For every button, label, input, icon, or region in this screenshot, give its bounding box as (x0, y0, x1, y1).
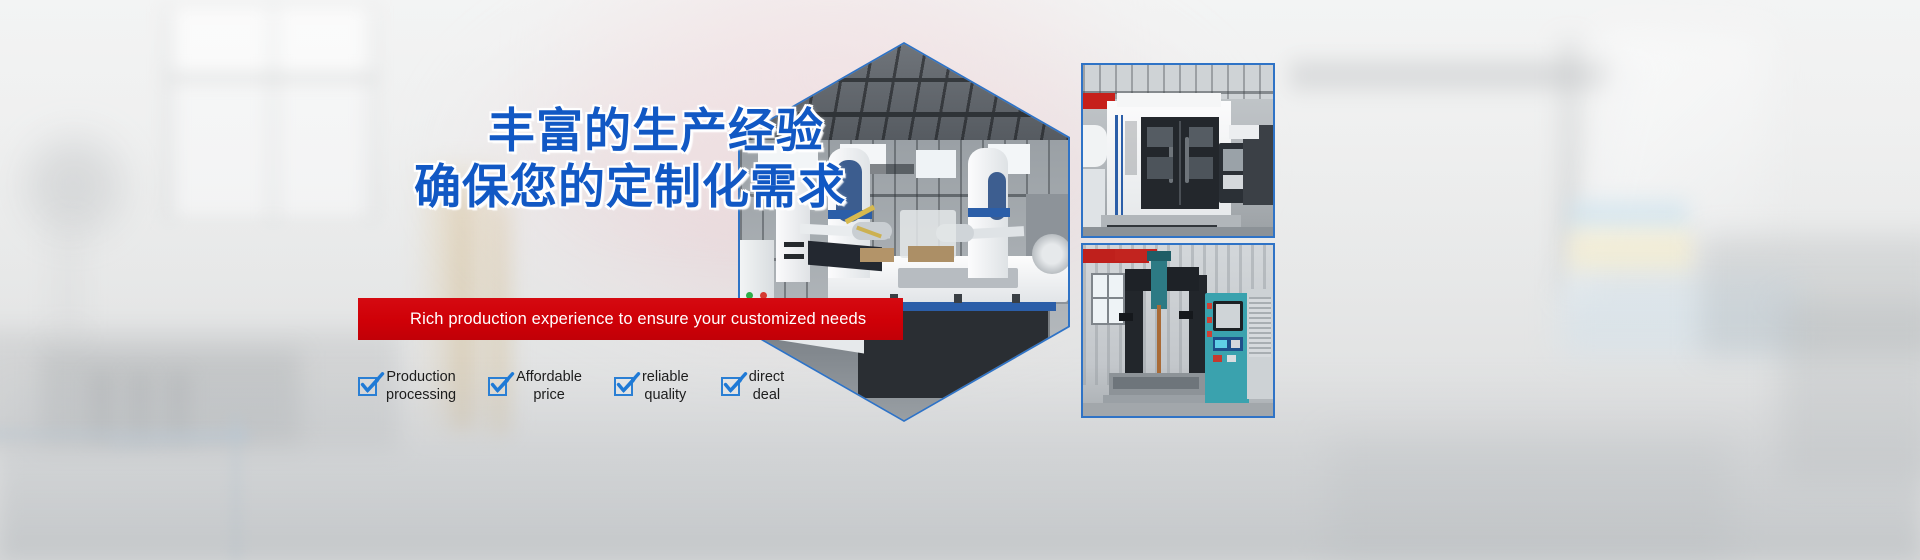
feature-label-line-2: quality (644, 387, 686, 403)
hexagon-photo (738, 42, 1070, 422)
thumbnail-machining-center (1081, 63, 1275, 238)
headline-line-2: 确保您的定制化需求 (330, 160, 930, 216)
feature-label: reliable quality (642, 368, 689, 404)
headline-line-1: 丰富的生产经验 (330, 104, 930, 160)
checkbox-checked-icon (358, 377, 377, 396)
feature-label: direct deal (749, 368, 784, 404)
feature-label: Production processing (386, 368, 456, 404)
feature-label-line-2: processing (386, 387, 456, 403)
checkbox-checked-icon (488, 377, 507, 396)
feature-item: Production processing (358, 368, 456, 404)
feature-label-line-1: Production (386, 369, 455, 385)
feature-item: reliable quality (614, 368, 689, 404)
feature-item: Affordable price (488, 368, 582, 404)
thumbnail-edm-machine (1081, 243, 1275, 418)
promo-banner: 丰富的生产经验 确保您的定制化需求 Rich production experi… (0, 0, 1920, 560)
headline: 丰富的生产经验 确保您的定制化需求 (330, 104, 930, 216)
subheadline-ribbon: Rich production experience to ensure you… (358, 298, 903, 340)
hexagon-image-clip (740, 44, 1068, 420)
feature-label-line-1: reliable (642, 369, 689, 385)
feature-item: direct deal (721, 368, 784, 404)
hd320-machine-photo (1083, 65, 1273, 236)
feature-label-line-1: Affordable (516, 369, 582, 385)
feature-label-line-2: deal (753, 387, 780, 403)
checkbox-checked-icon (614, 377, 633, 396)
feature-label-line-2: price (533, 387, 564, 403)
subheadline-text: Rich production experience to ensure you… (358, 310, 866, 329)
feature-list: Production processing Affordable price (358, 368, 816, 404)
feature-label-line-1: direct (749, 369, 784, 385)
feature-label: Affordable price (516, 368, 582, 404)
edm-machine-photo (1083, 245, 1273, 416)
checkbox-checked-icon (721, 377, 740, 396)
factory-machine-photo (740, 44, 1068, 420)
